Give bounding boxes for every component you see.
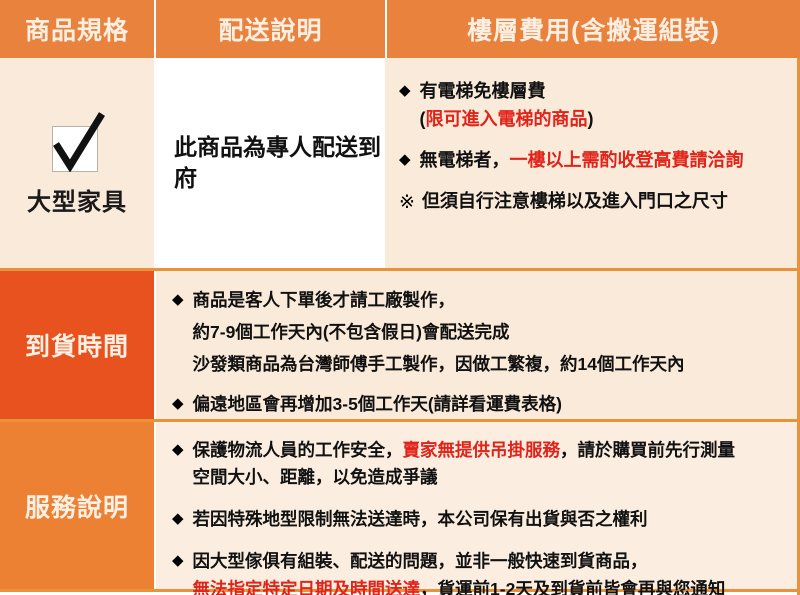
arrival-time-content-cell: ◆ 商品是客人下單後才請工廠製作， 約7-9個工作天內(不包含假日)會配送完成 …: [156, 271, 800, 419]
header-cell-floor-fee: 樓層費用(含搬運組裝): [387, 0, 800, 58]
service-bullet-block-1: 保護物流人員的工作安全，賣家無提供吊掛服務，請於購買前先行測量 空間大小、距離，…: [193, 437, 736, 491]
diamond-bullet-icon: ◆: [172, 391, 193, 415]
table-header-row: 商品規格 配送說明 樓層費用(含搬運組裝): [0, 0, 800, 58]
fee-bullet-text-2: 無電梯者，一樓以上需酌收登高費請洽詢: [420, 147, 744, 175]
service-bullet-item-2: ◆ 若因特殊地型限制無法送達時，本公司保有出貨與否之權利: [172, 506, 790, 533]
diamond-bullet-icon: ◆: [172, 548, 193, 572]
arrival-bullet-block-1: 商品是客人下單後才請工廠製作， 約7-9個工作天內(不包含假日)會配送完成 沙發…: [193, 287, 685, 378]
floor-fee-cell: ◆ 有電梯免樓層費(限可進入電梯的商品) ◆ 無電梯者，一樓以上需酌收登高費請洽…: [385, 58, 800, 268]
header-label-floor-fee: 樓層費用(含搬運組裝): [467, 11, 720, 47]
service-description-content-cell: ◆ 保護物流人員的工作安全，賣家無提供吊掛服務，請於購買前先行測量 空間大小、距…: [156, 422, 800, 589]
service-text-no-hoisting: 賣家無提供吊掛服務: [403, 440, 561, 460]
diamond-bullet-icon: ◆: [399, 78, 420, 102]
fee-bullet-item-1: ◆ 有電梯免樓層費(限可進入電梯的商品): [399, 78, 788, 134]
header-label-delivery-desc: 配送說明: [218, 11, 322, 47]
service-text-safety: 保護物流人員的工作安全，賣家無提供吊掛服務，請於購買前先行測量: [193, 437, 736, 464]
diamond-bullet-icon: ◆: [172, 287, 193, 311]
shipping-info-table: 商品規格 配送說明 樓層費用(含搬運組裝) 大型家具 此商品為專人配送到府: [0, 0, 800, 595]
service-text-safety-part2: ，請於購買前先行測量: [560, 440, 735, 460]
service-text-cannot-specify-date: 無法指定特定日期及時間送達: [193, 579, 421, 595]
table-row-arrival-time: 到貨時間 ◆ 商品是客人下單後才請工廠製作， 約7-9個工作天內(不包含假日)會…: [0, 271, 800, 422]
spec-label-large-furniture: 大型家具: [27, 182, 127, 217]
service-text-safety-part1: 保護物流人員的工作安全，: [193, 440, 403, 460]
fee-bullet-item-2: ◆ 無電梯者，一樓以上需酌收登高費請洽詢: [399, 147, 788, 175]
fee-text-no-elevator: 無電梯者，: [420, 150, 510, 170]
table-row-service-description: 服務說明 ◆ 保護物流人員的工作安全，賣家無提供吊掛服務，請於購買前先行測量 空…: [0, 422, 800, 592]
service-text-assembly-note: 因大型傢俱有組裝、配送的問題，並非一般快速到貨商品，: [193, 548, 726, 575]
fee-bullet-item-3: ※ 但須自行注意樓梯以及進入門口之尺寸: [399, 188, 788, 217]
service-text-notify-before: ，貨運前1-2天及到貨前皆會再與您通知: [420, 579, 725, 595]
service-text-terrain-limit: 若因特殊地型限制無法送達時，本公司保有出貨與否之權利: [193, 506, 648, 533]
row-label-cell-service-description: 服務說明: [0, 422, 154, 589]
arrival-subline-lead-time: 約7-9個工作天內(不包含假日)會配送完成: [193, 319, 685, 346]
service-bullet-block-3: 因大型傢俱有組裝、配送的問題，並非一般快速到貨商品， 無法指定特定日期及時間送達…: [193, 548, 726, 595]
header-cell-delivery-desc: 配送說明: [156, 0, 385, 58]
row-label-cell-arrival-time: 到貨時間: [0, 271, 154, 419]
reference-mark-icon: ※: [399, 188, 422, 217]
diamond-bullet-icon: ◆: [172, 437, 193, 461]
row-label-cell-product-spec: 大型家具: [0, 58, 154, 268]
row-label-arrival-time: 到貨時間: [25, 327, 129, 363]
header-cell-product-spec: 商品規格: [0, 0, 154, 58]
fee-text-elevator-free: 有電梯免樓層費: [420, 81, 546, 101]
arrival-text-remote-area: 偏遠地區會再增加3-5個工作天(請詳看運費表格): [193, 391, 562, 418]
fee-text-climb-charge: 一樓以上需酌收登高費請洽詢: [510, 150, 744, 170]
diamond-bullet-icon: ◆: [172, 506, 193, 530]
diamond-bullet-icon: ◆: [399, 147, 420, 171]
service-bullet-item-1: ◆ 保護物流人員的工作安全，賣家無提供吊掛服務，請於購買前先行測量 空間大小、距…: [172, 437, 790, 491]
fee-note-measure-text: 但須自行注意樓梯以及進入門口之尺寸: [422, 188, 728, 216]
service-subline-measure-space: 空間大小、距離，以免造成爭議: [193, 464, 736, 491]
arrival-bullet-item-1: ◆ 商品是客人下單後才請工廠製作， 約7-9個工作天內(不包含假日)會配送完成 …: [172, 287, 790, 378]
fee-text-elevator-limit: 限可進入電梯的商品: [426, 109, 588, 129]
checkbox-checked-icon: [46, 110, 108, 172]
table-row-product-spec: 大型家具 此商品為專人配送到府 ◆ 有電梯免樓層費(限可進入電梯的商品) ◆ 無…: [0, 58, 800, 271]
delivery-description-cell: 此商品為專人配送到府: [156, 58, 385, 268]
service-bullet-item-3: ◆ 因大型傢俱有組裝、配送的問題，並非一般快速到貨商品， 無法指定特定日期及時間…: [172, 548, 790, 595]
fee-paren-close: ): [588, 109, 594, 129]
delivery-description-text: 此商品為專人配送到府: [174, 132, 385, 194]
arrival-bullet-item-2: ◆ 偏遠地區會再增加3-5個工作天(請詳看運費表格): [172, 391, 790, 418]
header-label-product-spec: 商品規格: [25, 11, 129, 47]
arrival-text-made-to-order: 商品是客人下單後才請工廠製作，: [193, 287, 685, 314]
arrival-subline-sofa-lead-time: 沙發類商品為台灣師傅手工製作，因做工繁複，約14個工作天內: [193, 351, 685, 378]
fee-bullet-text-1: 有電梯免樓層費(限可進入電梯的商品): [420, 78, 594, 134]
service-subline-no-date-specify: 無法指定特定日期及時間送達，貨運前1-2天及到貨前皆會再與您通知: [193, 576, 726, 595]
row-label-service-description: 服務說明: [25, 488, 129, 524]
